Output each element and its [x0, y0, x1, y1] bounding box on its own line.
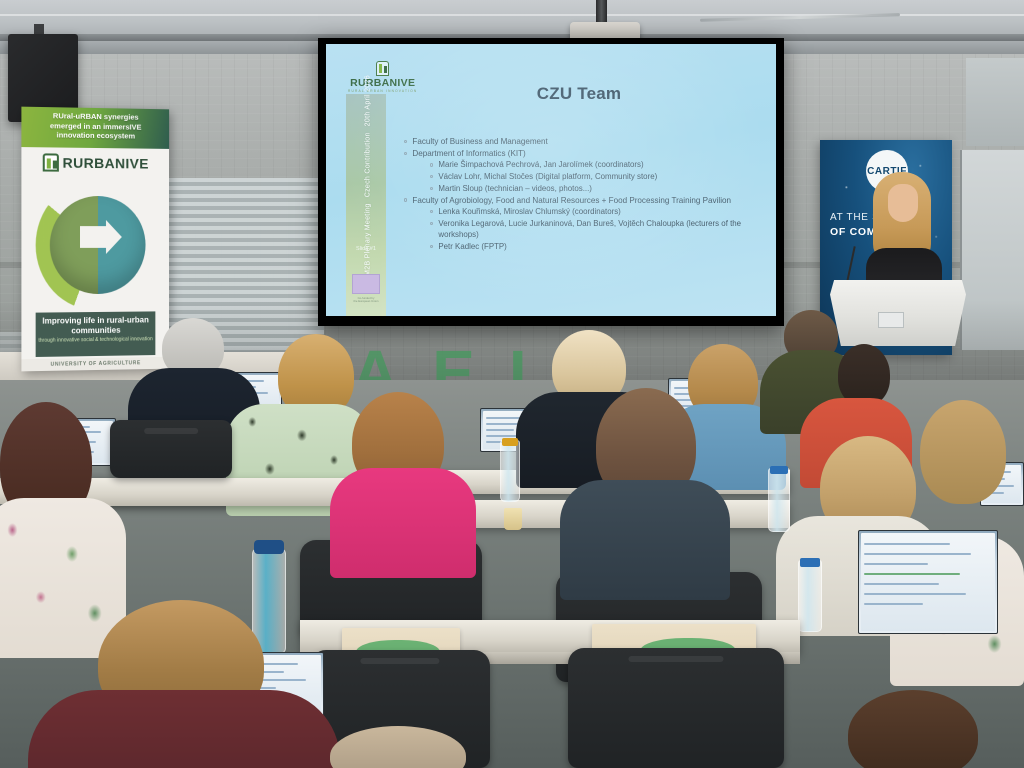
podium-plaque	[878, 312, 904, 328]
slide-bullet-text: Václav Lohr, Michal Stočes (Digital plat…	[438, 171, 762, 182]
slide-bullet-text: Faculty of Business and Management	[412, 136, 762, 147]
slide-bullet: Faculty of Agrobiology, Food and Natural…	[404, 195, 762, 206]
attendee-torso	[28, 690, 340, 768]
banner-caption-sub: through innovative social & technologica…	[36, 336, 156, 344]
rurbanive-mark-icon	[376, 61, 389, 76]
slide-bullet: Martin Sloup (technician – videos, photo…	[430, 183, 762, 194]
bullet-marker-icon	[404, 152, 407, 155]
bullet-marker-icon	[430, 245, 433, 248]
attendee-head	[838, 344, 890, 406]
bullet-marker-icon	[430, 222, 433, 225]
slide-meta-line1: M2B Plenary Meeting	[365, 203, 372, 276]
chair[interactable]	[110, 420, 232, 478]
eu-funding-note: Co-funded bythe European Union	[346, 297, 386, 304]
chair[interactable]	[568, 648, 784, 768]
banner-logo-word: RURBANIVE	[63, 155, 149, 172]
window-right-upper	[966, 58, 1024, 146]
slide-bullet-text: Lenka Kouřimská, Miroslav Chlumský (coor…	[438, 206, 762, 217]
slide-bullet-text: Martin Sloup (technician – videos, photo…	[438, 183, 762, 194]
slide-sidebar-meta: M2B Plenary Meeting Czech Contribution 2…	[365, 91, 372, 261]
slide-meta-line2: Czech Contribution	[365, 132, 372, 197]
slide-bullet: Veronika Legarová, Lucie Jurkaninová, Da…	[430, 218, 762, 240]
projection-screen: RURBANIVE RURAL URBAN INNOVATION M2B Ple…	[318, 38, 784, 326]
water-bottle	[798, 560, 822, 632]
banner-artwork	[36, 180, 156, 311]
bullet-marker-icon	[430, 187, 433, 190]
presentation-slide: RURBANIVE RURAL URBAN INNOVATION M2B Ple…	[326, 44, 776, 316]
attendee-torso	[330, 468, 476, 578]
bullet-marker-icon	[404, 140, 407, 143]
bullet-marker-icon	[404, 198, 407, 201]
slide-number: Slide #1	[346, 246, 386, 252]
bullet-marker-icon	[430, 210, 433, 213]
laptop[interactable]	[858, 530, 998, 634]
bullet-marker-icon	[430, 175, 433, 178]
banner-tagline: RUral-uRBAN synergiesemerged in an immer…	[28, 111, 164, 142]
attendee-torso	[560, 480, 730, 600]
banner-caption-main: Improving life in rural-urban communitie…	[36, 315, 156, 335]
slide-bullet-text: Faculty of Agrobiology, Food and Natural…	[412, 195, 762, 206]
slide-meta-line3: 20th April 2026	[365, 75, 372, 126]
water-bottle	[768, 468, 790, 532]
slide-bullet-text: Department of Informatics (KIT)	[412, 148, 762, 159]
slide-bullet: Marie Šimpachová Pechrová, Jan Jarolímek…	[430, 159, 762, 170]
rurbanive-mark-icon	[42, 153, 58, 171]
slide-bullet-text: Marie Šimpachová Pechrová, Jan Jarolímek…	[438, 159, 762, 170]
laptop-screen	[861, 533, 995, 631]
slide-title: CZU Team	[386, 84, 772, 104]
bottle-cap	[800, 558, 820, 567]
water-bottle	[500, 440, 520, 502]
bottle-cap	[502, 438, 518, 446]
banner-caption: Improving life in rural-urban communitie…	[36, 311, 156, 357]
slide-sidebar: M2B Plenary Meeting Czech Contribution 2…	[346, 94, 386, 316]
slide-bullet: Václav Lohr, Michal Stočes (Digital plat…	[430, 171, 762, 182]
slide-bullet-list: Faculty of Business and ManagementDepart…	[404, 136, 762, 253]
slide-bullet-text: Petr Kadlec (FPTP)	[438, 241, 762, 252]
banner-logo: RURBANIVE	[21, 149, 169, 177]
conference-room-photo: AEI RUral-uRBAN synergiesemerged in an i…	[0, 0, 1024, 768]
presenter-face	[888, 184, 918, 222]
coffee-cup	[504, 508, 522, 530]
rollup-banner-rurbanive: RUral-uRBAN synergiesemerged in an immer…	[21, 107, 169, 372]
slide-bullet: Faculty of Business and Management	[404, 136, 762, 147]
slide-bullet: Lenka Kouřimská, Miroslav Chlumský (coor…	[430, 206, 762, 217]
eu-funding-emblem-icon	[352, 274, 380, 294]
slide-bullet: Petr Kadlec (FPTP)	[430, 241, 762, 252]
slide-bullet: Department of Informatics (KIT)	[404, 148, 762, 159]
bullet-marker-icon	[430, 163, 433, 166]
attendee-head	[920, 400, 1006, 504]
bottle-cap	[254, 540, 284, 554]
bottle-cap	[770, 466, 788, 474]
slide-bullet-text: Veronika Legarová, Lucie Jurkaninová, Da…	[438, 218, 762, 240]
